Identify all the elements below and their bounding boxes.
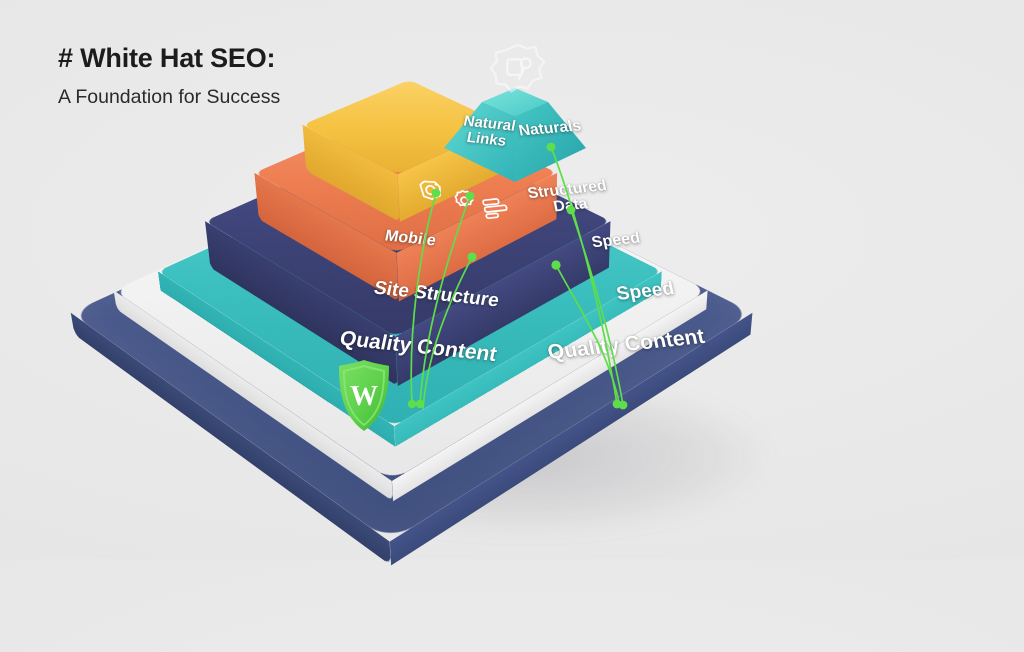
search-crest-icon xyxy=(487,40,549,102)
white-hat-shield[interactable]: W xyxy=(336,358,392,434)
shield-monogram: W xyxy=(350,381,378,412)
illustration-stage: # White Hat SEO: A Foundation for Succes… xyxy=(0,0,1024,559)
